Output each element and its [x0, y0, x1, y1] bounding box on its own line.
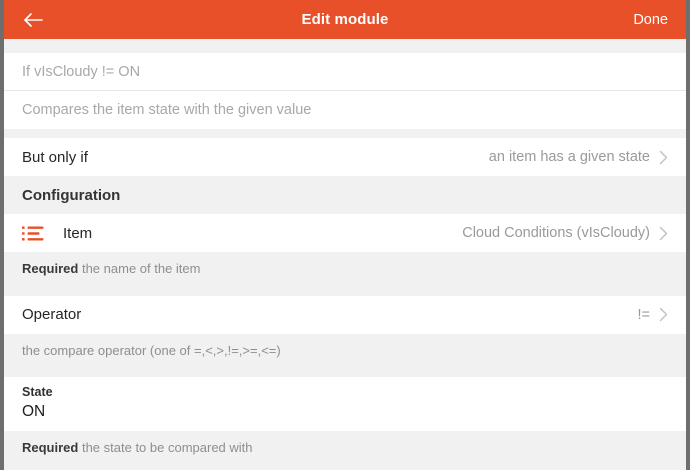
chevron-right-icon — [659, 150, 668, 165]
app-window: Edit module Done If vIsCloudy != ON Comp… — [0, 0, 690, 470]
state-helper-required: Required — [22, 440, 78, 455]
condition-card: But only if an item has a given state — [4, 138, 686, 176]
operator-card: Operator != — [4, 296, 686, 334]
state-label: State — [22, 385, 668, 399]
summary-card: If vIsCloudy != ON Compares the item sta… — [4, 53, 686, 129]
but-only-if-value: an item has a given state — [489, 149, 650, 165]
spacer-after-operator — [4, 368, 686, 377]
state-card: State ON — [4, 377, 686, 431]
chevron-right-icon — [659, 226, 668, 241]
app-header-bar: Edit module Done — [4, 0, 686, 39]
module-expression-text: If vIsCloudy != ON — [22, 64, 140, 80]
state-helper-detail: the state to be compared with — [82, 440, 253, 455]
state-helper-text: Required the state to be compared with — [4, 431, 686, 466]
item-helper-text: Required the name of the item — [4, 252, 686, 287]
operator-helper-detail: the compare operator (one of =,<,>,!=,>=… — [22, 343, 281, 358]
operator-label: Operator — [22, 306, 81, 323]
spacer-top — [4, 39, 686, 53]
module-description-row: Compares the item state with the given v… — [4, 91, 686, 129]
spacer-after-item — [4, 287, 686, 296]
state-value[interactable]: ON — [22, 403, 668, 421]
done-button[interactable]: Done — [633, 12, 670, 28]
list-icon — [22, 225, 46, 241]
operator-helper-text: the compare operator (one of =,<,>,!=,>=… — [4, 334, 686, 369]
item-card: Item Cloud Conditions (vIsCloudy) — [4, 214, 686, 252]
chevron-right-icon — [659, 307, 668, 322]
module-expression-row: If vIsCloudy != ON — [4, 53, 686, 91]
but-only-if-row[interactable]: But only if an item has a given state — [4, 138, 686, 176]
configuration-section-title: Configuration — [4, 176, 686, 214]
item-row[interactable]: Item Cloud Conditions (vIsCloudy) — [4, 214, 686, 252]
item-label: Item — [63, 225, 92, 242]
operator-value: != — [638, 307, 651, 323]
item-helper-required: Required — [22, 261, 78, 276]
back-arrow-icon[interactable] — [20, 7, 46, 33]
state-field[interactable]: State ON — [4, 377, 686, 431]
but-only-if-label: But only if — [22, 149, 88, 166]
settings-scroll-area[interactable]: If vIsCloudy != ON Compares the item sta… — [4, 39, 686, 470]
page-title: Edit module — [4, 11, 686, 28]
operator-row[interactable]: Operator != — [4, 296, 686, 334]
module-description-text: Compares the item state with the given v… — [22, 102, 311, 118]
spacer-after-summary — [4, 129, 686, 138]
item-helper-detail: the name of the item — [82, 261, 201, 276]
item-value: Cloud Conditions (vIsCloudy) — [462, 225, 650, 241]
